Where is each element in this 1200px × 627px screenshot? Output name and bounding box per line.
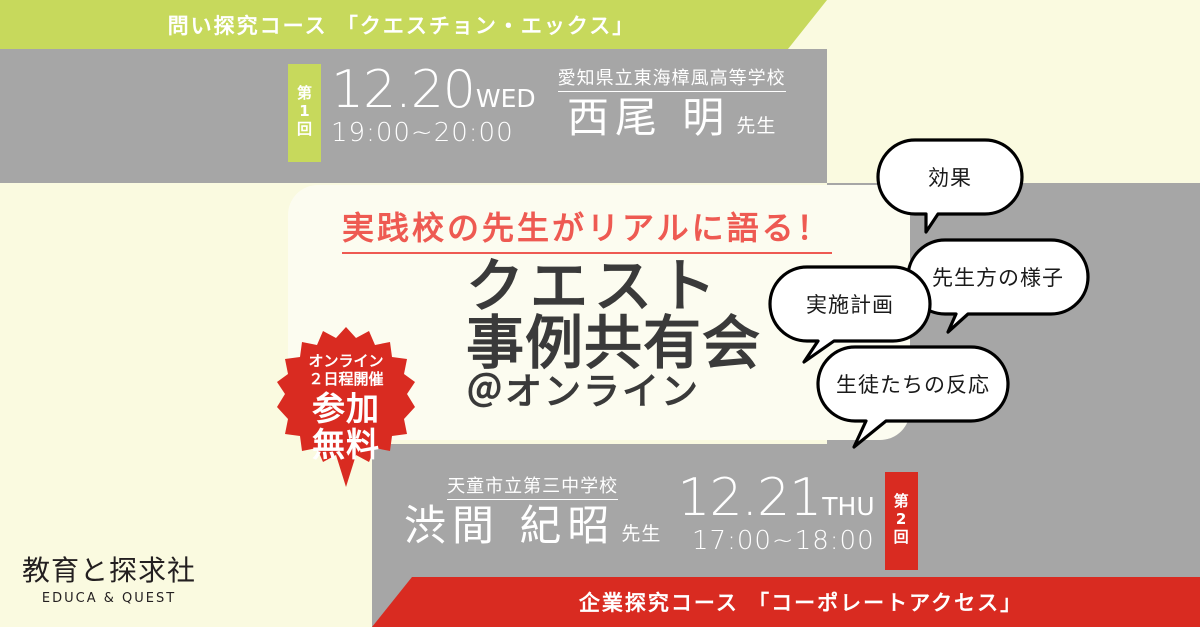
session-2-dateline: 12.21 THU <box>677 472 874 524</box>
company-logo-en: EDUCA & QUEST <box>22 591 196 606</box>
session-1-tag-dai: 第 <box>297 85 312 103</box>
course-banner-top: 問い探究コース 「クエスチョン・エックス」 <box>0 0 827 49</box>
speech-bubble-jisshi-keikaku-label: 実施計画 <box>768 265 932 343</box>
company-logo-jp: 教育と探求社 <box>22 556 196 587</box>
session-2: 天童市立第三中学校 渋間 紀昭 先生 12.21 THU 17:00~18:00… <box>404 472 918 570</box>
card-headline: 実践校の先生がリアルに語る！ <box>342 203 832 254</box>
session-1-honorific: 先生 <box>736 111 776 138</box>
card-title-line1: クエスト <box>466 257 761 316</box>
session-2-date: 12.21 <box>677 472 821 524</box>
session-2-tag-kai: 回 <box>894 529 909 547</box>
session-2-dateblock: 12.21 THU 17:00~18:00 <box>677 472 874 554</box>
card-title-line3: ＠オンライン <box>466 373 761 412</box>
session-1-date: 12.20 <box>331 64 475 116</box>
course-banner-top-label: 問い探究コース 「クエスチョン・エックス」 <box>168 10 660 40</box>
session-2-school: 天童市立第三中学校 <box>447 472 618 500</box>
session-1-tag-kai: 回 <box>297 121 312 139</box>
session-1-dateblock: 12.20 WED 19:00~20:00 <box>331 64 536 146</box>
session-2-tag-number: 2 <box>896 511 906 529</box>
free-participation-badge-text: オンライン ２日程開催 参加 無料 <box>277 327 415 487</box>
session-1-dateline: 12.20 WED <box>331 64 536 116</box>
course-banner-bottom-label: 企業探究コース 「コーポレートアクセス」 <box>549 587 1023 617</box>
session-2-honorific: 先生 <box>621 519 661 546</box>
session-1-school: 愛知県立東海樟風高等学校 <box>558 64 786 92</box>
session-1-speaker: 愛知県立東海樟風高等学校 西尾 明 先生 <box>558 64 786 140</box>
session-1-number-tag: 第 1 回 <box>288 64 321 162</box>
session-2-namerow: 渋間 紀昭 先生 <box>404 504 661 548</box>
speech-bubble-seito-hannou: 生徒たちの反応 <box>816 345 1010 450</box>
session-2-speaker-name: 渋間 紀昭 <box>404 504 615 548</box>
session-1: 第 1 回 12.20 WED 19:00~20:00 愛知県立東海樟風高等学校… <box>288 64 786 162</box>
speech-bubble-sensei-yousu-label: 先生方の様子 <box>906 238 1090 316</box>
poster-canvas: 問い探究コース 「クエスチョン・エックス」 第 1 回 12.20 WED 19… <box>0 0 1200 627</box>
course-banner-bottom: 企業探究コース 「コーポレートアクセス」 <box>372 577 1200 627</box>
speech-bubble-kouka-label: 効果 <box>876 138 1024 216</box>
card-title: クエスト 事例共有会 ＠オンライン <box>466 257 761 412</box>
speech-bubble-kouka: 効果 <box>876 138 1024 234</box>
free-participation-badge: オンライン ２日程開催 参加 無料 <box>277 327 415 487</box>
session-2-number-tag: 第 2 回 <box>885 472 918 570</box>
speech-bubble-sensei-yousu: 先生方の様子 <box>906 238 1090 334</box>
session-1-namerow: 西尾 明 先生 <box>558 96 786 140</box>
session-2-weekday: THU <box>822 494 874 519</box>
badge-line-3: 参加 <box>312 392 380 426</box>
session-1-weekday: WED <box>476 86 536 111</box>
badge-line-2: ２日程開催 <box>308 370 383 388</box>
session-1-speaker-name: 西尾 明 <box>567 96 730 140</box>
badge-line-4: 無料 <box>312 428 380 462</box>
session-1-time: 19:00~20:00 <box>331 120 536 146</box>
session-2-tag-dai: 第 <box>894 493 909 511</box>
badge-line-1: オンライン <box>308 352 383 370</box>
card-title-line2: 事例共有会 <box>466 314 761 373</box>
speech-bubble-seito-hannou-label: 生徒たちの反応 <box>816 345 1010 423</box>
session-2-speaker: 天童市立第三中学校 渋間 紀昭 先生 <box>404 472 661 548</box>
session-1-tag-number: 1 <box>299 103 309 121</box>
company-logo: 教育と探求社 EDUCA & QUEST <box>22 556 196 606</box>
session-2-time: 17:00~18:00 <box>677 528 874 554</box>
